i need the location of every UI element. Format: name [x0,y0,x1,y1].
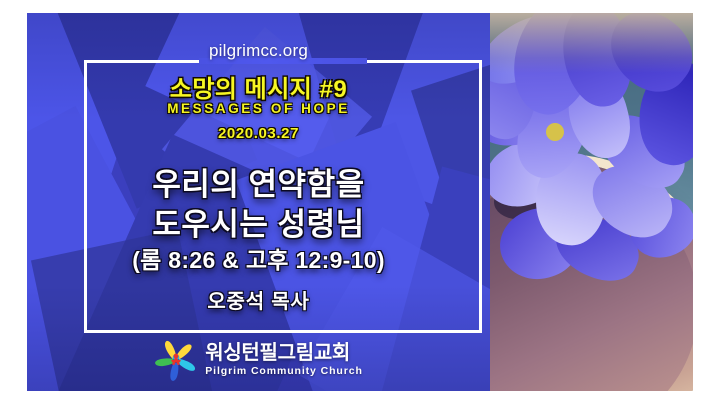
hyacinth-photo [490,13,693,391]
series-title: 소망의 메시지 #9 [27,69,490,104]
scripture-reference: (롬 8:26 & 고후 12:9-10) [27,241,490,275]
speaker-name: 오중석 목사 [27,285,490,314]
star-people-logo-icon [154,338,198,382]
flower-center [546,123,564,141]
website-url: pilgrimcc.org [27,41,490,61]
church-name-korean: 워싱턴필그림교회 [205,342,350,364]
sermon-title-line-2: 도우시는 성령님 [27,199,490,244]
church-logo: 워싱턴필그림교회 Pilgrim Community Church [27,338,490,382]
sermon-slide: pilgrimcc.org 소망의 메시지 #9 MESSAGES OF HOP… [0,0,720,405]
series-subtitle: MESSAGES OF HOPE [27,101,490,116]
sermon-date: 2020.03.27 [27,125,490,142]
slide-content: pilgrimcc.org 소망의 메시지 #9 MESSAGES OF HOP… [27,13,490,391]
photo-highlight [490,13,693,73]
sermon-title-line-1: 우리의 연약함을 [27,159,490,204]
church-name-english: Pilgrim Community Church [205,366,363,377]
church-logo-text: 워싱턴필그림교회 Pilgrim Community Church [205,343,363,377]
slide-card: pilgrimcc.org 소망의 메시지 #9 MESSAGES OF HOP… [27,13,693,391]
